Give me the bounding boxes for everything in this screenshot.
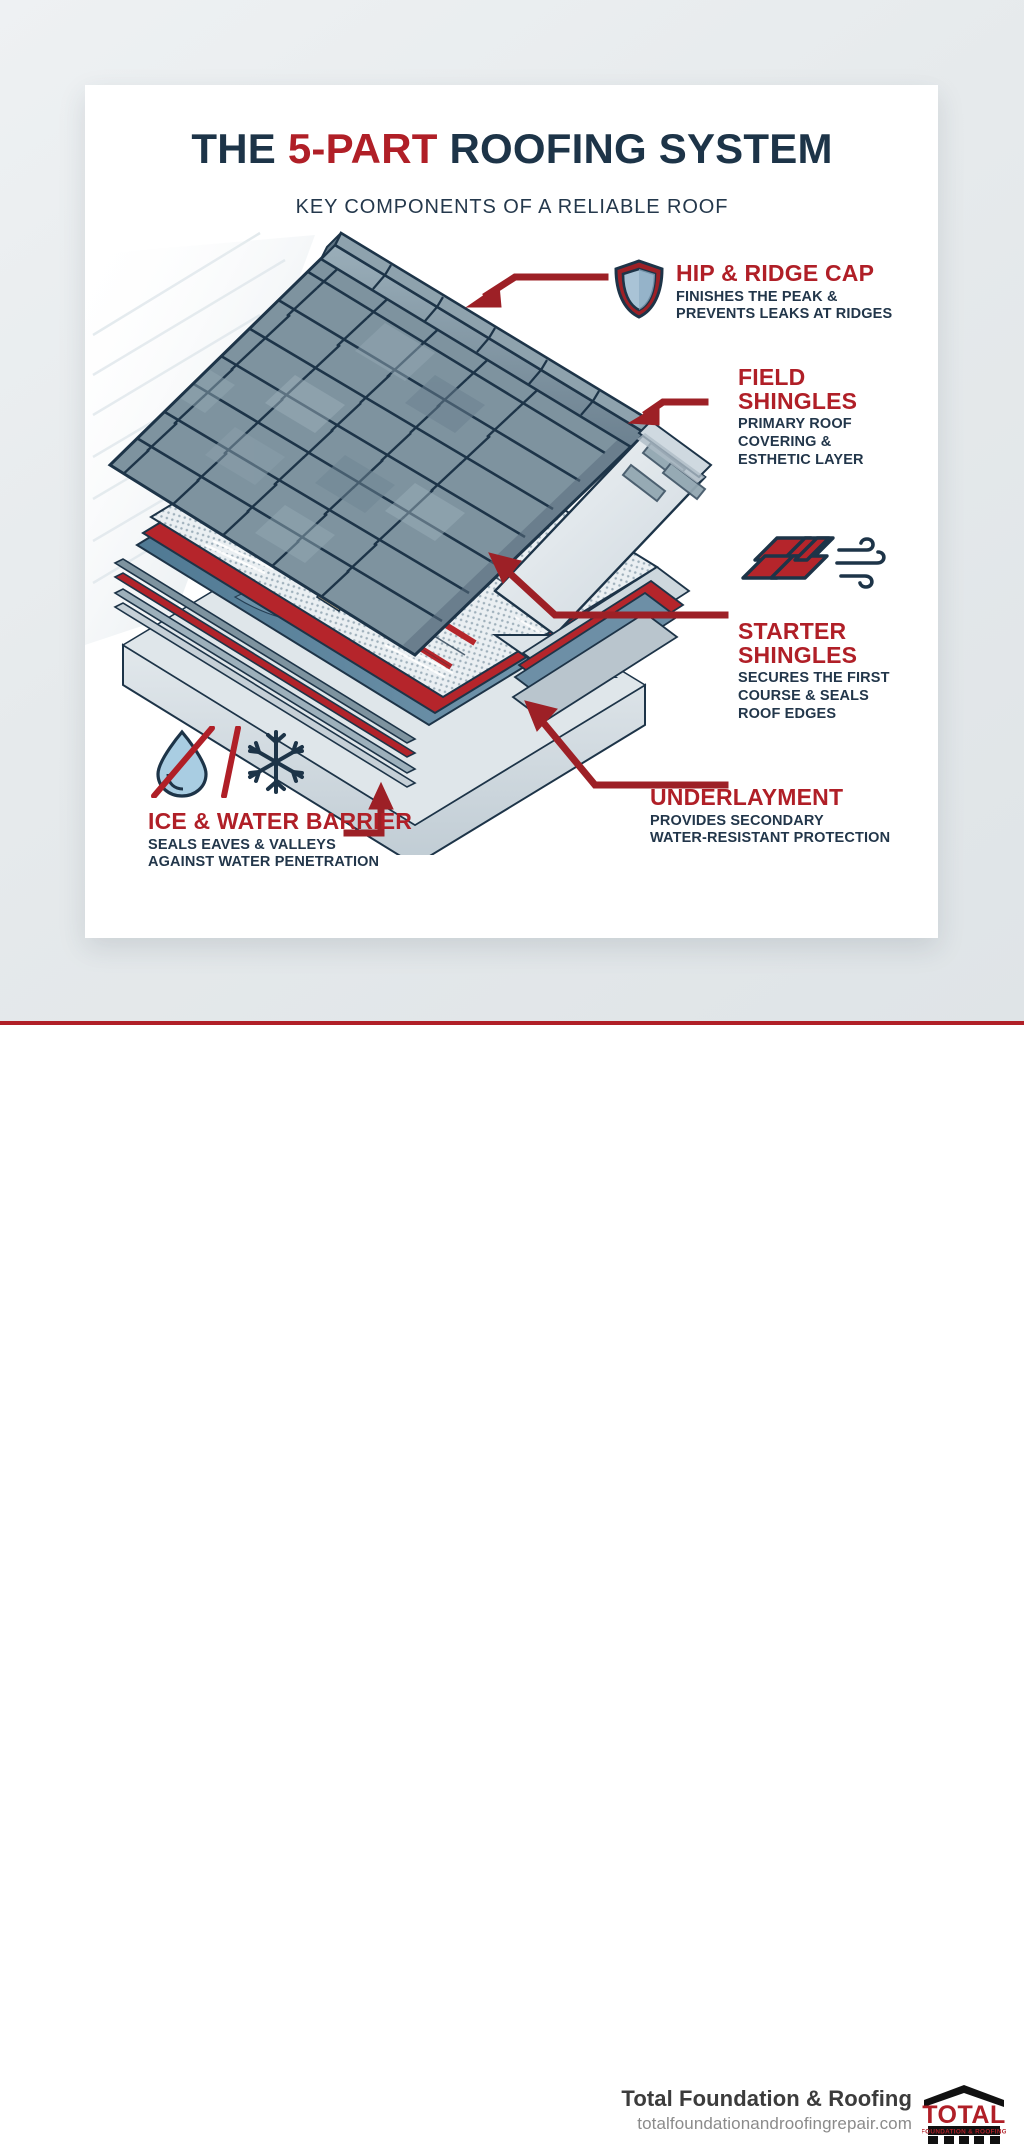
title-accent: 5-PART [288,125,438,172]
brand-url[interactable]: totalfoundationandroofingrepair.com [621,2114,912,2134]
callout-desc: PROVIDES SECONDARY WATER-RESISTANT PROTE… [650,813,930,848]
callout-hip-ridge-cap: HIP & RIDGE CAP FINISHES THE PEAK & PREV… [676,262,928,324]
callout-title: STARTER SHINGLES [738,620,928,667]
callout-field-shingles: FIELD SHINGLES PRIMARY ROOF COVERING & E… [738,366,928,469]
infographic-root: THE 5-PART ROOFING SYSTEM KEY COMPONENTS… [0,0,1024,1154]
callout-title: UNDERLAYMENT [650,786,930,810]
callout-underlayment: UNDERLAYMENT PROVIDES SECONDARY WATER-RE… [650,786,930,848]
callout-title: HIP & RIDGE CAP [676,262,928,286]
callout-desc: SEALS EAVES & VALLEYS AGAINST WATER PENE… [148,837,458,872]
title-pre: THE [191,125,287,172]
callout-desc: SECURES THE FIRST COURSE & SEALS ROOF ED… [738,670,928,723]
callout-title: ICE & WATER BARRIER [148,810,458,834]
shingles-wind-icon [737,530,889,597]
arrow-hip-ridge [467,277,605,307]
callout-desc: FINISHES THE PEAK & PREVENTS LEAKS AT RI… [676,289,928,324]
shield-icon [612,258,666,325]
title-post: ROOFING SYSTEM [438,125,833,172]
brand-block: Total Foundation & Roofing totalfoundati… [621,2086,912,2134]
total-foundation-roofing-logo: TOTAL FOUNDATION & ROOFING [922,2083,1006,2145]
page-title: THE 5-PART ROOFING SYSTEM [0,128,1024,170]
svg-text:TOTAL: TOTAL [922,2101,1006,2129]
callout-title: FIELD SHINGLES [738,366,928,413]
brand-name: Total Foundation & Roofing [621,2086,912,2112]
callout-starter-shingles: STARTER SHINGLES SECURES THE FIRST COURS… [738,620,928,723]
footer: Total Foundation & Roofing totalfoundati… [0,1025,1024,1154]
callout-desc: PRIMARY ROOF COVERING & ESTHETIC LAYER [738,416,928,469]
callout-ice-water-barrier: ICE & WATER BARRIER SEALS EAVES & VALLEY… [148,810,458,872]
svg-text:FOUNDATION & ROOFING: FOUNDATION & ROOFING [922,2128,1006,2135]
water-snowflake-icon [150,726,310,803]
